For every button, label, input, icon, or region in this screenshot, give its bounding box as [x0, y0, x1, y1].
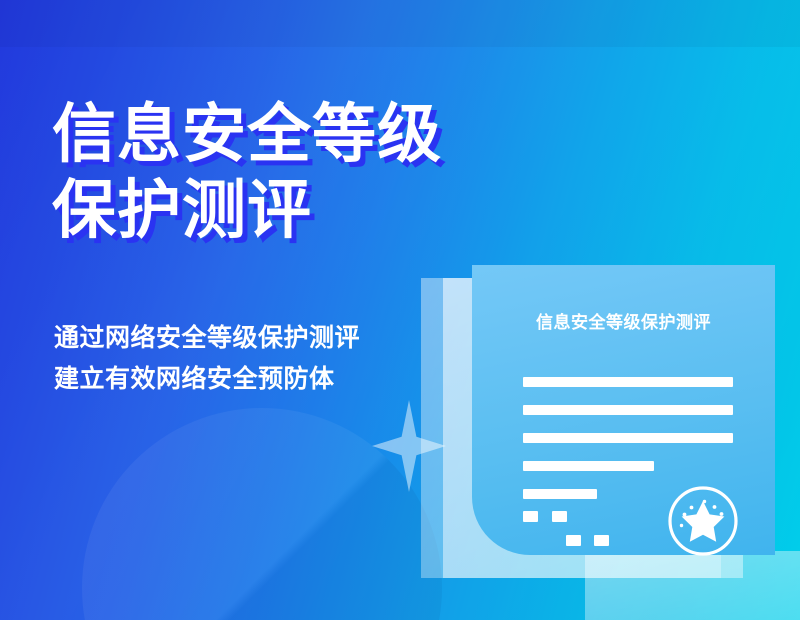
background-circle	[82, 408, 442, 620]
document-block	[566, 535, 581, 546]
document-line	[523, 433, 733, 443]
document-line	[523, 405, 733, 415]
document-line	[523, 489, 597, 499]
star-badge-icon	[666, 484, 740, 558]
document-line	[523, 377, 733, 387]
document-card-title: 信息安全等级保护测评	[472, 308, 775, 333]
subheadline-line-1: 通过网络安全等级保护测评	[54, 318, 474, 359]
document-line	[523, 461, 654, 471]
document-block	[523, 511, 538, 522]
headline-line-1: 信息安全等级	[52, 96, 532, 172]
document-block	[594, 535, 609, 546]
background-band	[0, 0, 800, 47]
document-block	[552, 511, 567, 522]
subheadline-line-2: 建立有效网络安全预防体	[54, 359, 474, 400]
subheadline: 通过网络安全等级保护测评 建立有效网络安全预防体	[54, 318, 474, 400]
headline: 信息安全等级 保护测评	[52, 96, 532, 248]
document-card-base-panel	[585, 551, 800, 620]
promo-banner: 信息安全等级 保护测评 通过网络安全等级保护测评 建立有效网络安全预防体 信息安…	[0, 0, 800, 620]
headline-line-2: 保护测评	[52, 172, 532, 248]
